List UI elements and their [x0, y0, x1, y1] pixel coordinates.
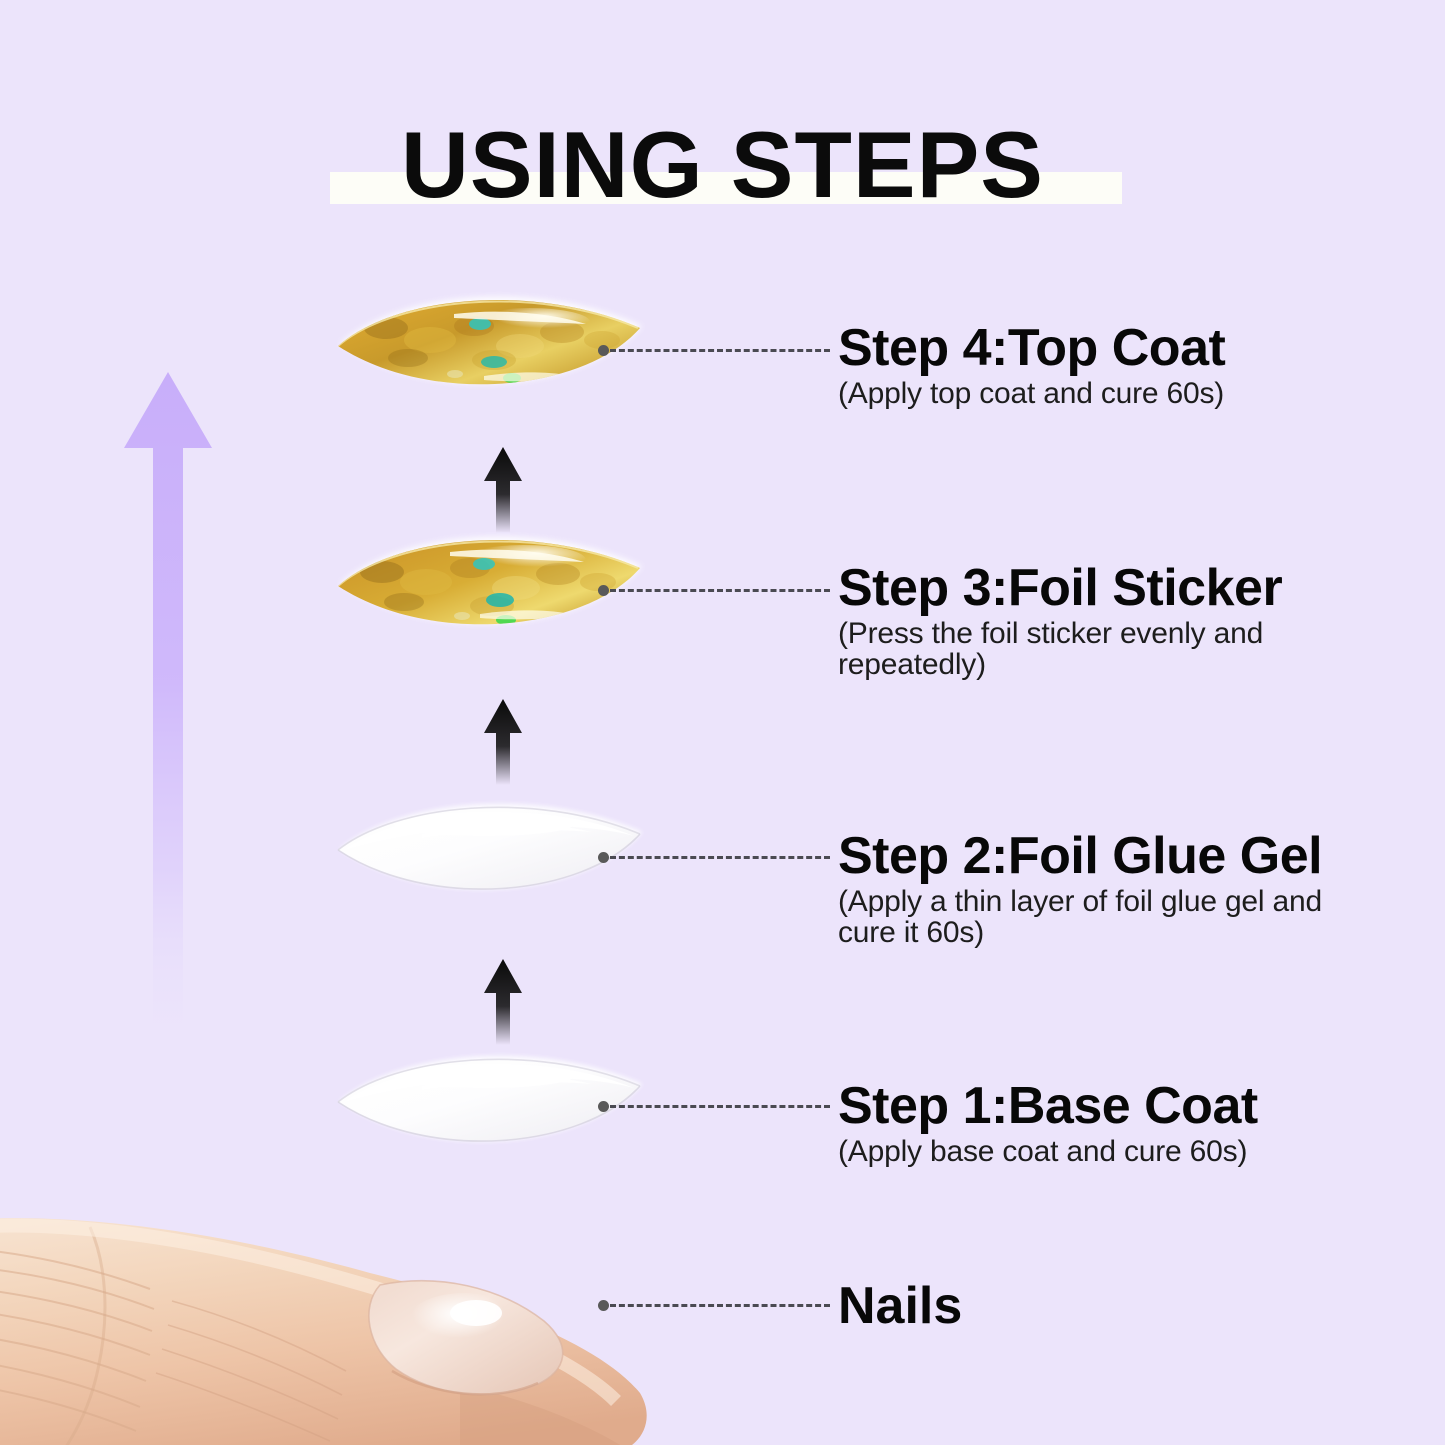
infographic-canvas: USING STEPS	[0, 0, 1445, 1445]
step-caption-step-2: (Apply a thin layer of foil glue gel and…	[838, 886, 1358, 948]
fingertip-photo	[0, 1155, 680, 1445]
leader-dash	[610, 1105, 830, 1108]
step-block-step-1: Step 1:Base Coat (Apply base coat and cu…	[838, 1078, 1418, 1167]
leader-dash	[610, 1304, 830, 1307]
leader-line-step-3	[598, 580, 830, 600]
up-arrow-small-icon	[473, 695, 533, 785]
up-arrow-small-icon	[473, 443, 533, 533]
leader-dash	[610, 856, 830, 859]
step-title-step-4: Step 4:Top Coat	[838, 320, 1418, 376]
step-title-step-2: Step 2:Foil Glue Gel	[838, 828, 1418, 884]
step-block-step-3: Step 3:Foil Sticker (Press the foil stic…	[838, 560, 1418, 680]
step-block-step-2: Step 2:Foil Glue Gel (Apply a thin layer…	[838, 828, 1418, 948]
leader-dot-icon	[598, 585, 609, 596]
leader-line-nails	[598, 1295, 830, 1315]
leader-line-step-2	[598, 847, 830, 867]
leader-dash	[610, 349, 830, 352]
step-caption-step-4: (Apply top coat and cure 60s)	[838, 378, 1418, 409]
nails-label: Nails	[838, 1278, 962, 1334]
page-title: USING STEPS	[0, 118, 1445, 212]
step-title-step-1: Step 1:Base Coat	[838, 1078, 1418, 1134]
leader-dot-icon	[598, 852, 609, 863]
up-arrow-icon	[110, 360, 230, 1060]
step-caption-step-1: (Apply base coat and cure 60s)	[838, 1136, 1418, 1167]
step-caption-step-3: (Press the foil sticker evenly and repea…	[838, 618, 1338, 680]
leader-dot-icon	[598, 1101, 609, 1112]
leader-dot-icon	[598, 345, 609, 356]
leader-line-step-4	[598, 340, 830, 360]
step-title-step-3: Step 3:Foil Sticker	[838, 560, 1418, 616]
step-block-step-4: Step 4:Top Coat (Apply top coat and cure…	[838, 320, 1418, 409]
leader-dot-icon	[598, 1300, 609, 1311]
leader-dash	[610, 589, 830, 592]
up-arrow-small-icon	[473, 955, 533, 1045]
leader-line-step-1	[598, 1096, 830, 1116]
